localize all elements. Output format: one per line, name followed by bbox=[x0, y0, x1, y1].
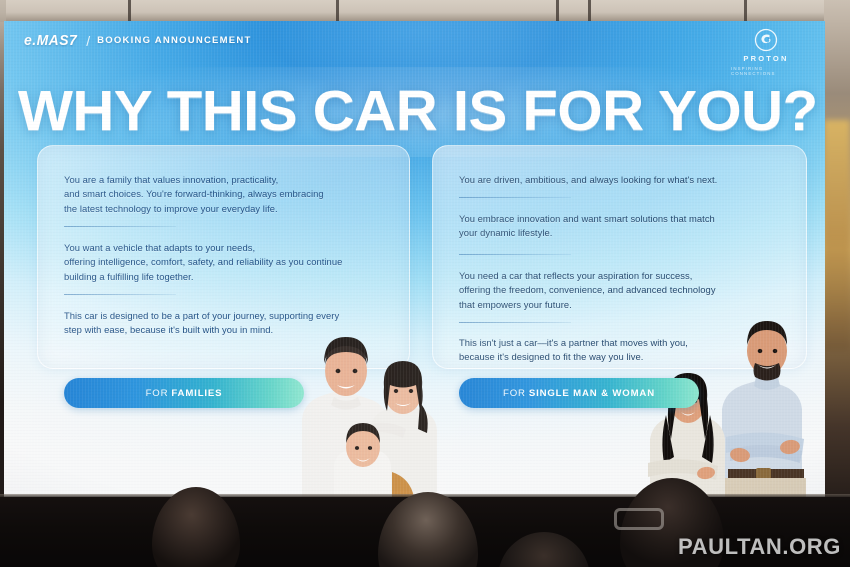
divider bbox=[64, 294, 176, 295]
watermark: PAULTAN.ORG bbox=[678, 534, 841, 560]
photo-of-presentation-screen: e.MAS7 / BOOKING ANNOUNCEMENT PROTON INS… bbox=[0, 0, 850, 567]
pill-prefix: FOR bbox=[503, 388, 526, 399]
divider bbox=[459, 197, 571, 198]
ceiling-seam bbox=[336, 0, 339, 22]
left-paragraph-1: You are a family that values innovation,… bbox=[64, 173, 386, 216]
right-paragraph-1: You are driven, ambitious, and always lo… bbox=[459, 173, 779, 187]
right-wall-decor bbox=[824, 0, 850, 520]
page-title: WHY THIS CAR IS FOR YOU? bbox=[18, 83, 825, 140]
slide-header: e.MAS7 / BOOKING ANNOUNCEMENT bbox=[22, 32, 252, 49]
pill-prefix: FOR bbox=[146, 388, 169, 399]
brand-tagline: INSPIRING CONNECTIONS bbox=[731, 66, 801, 76]
for-single-man-woman-button[interactable]: FOR SINGLE MAN & WOMAN bbox=[459, 378, 699, 408]
for-families-button[interactable]: FOR FAMILIES bbox=[64, 378, 304, 408]
divider bbox=[64, 226, 176, 227]
left-paragraph-2: You want a vehicle that adapts to your n… bbox=[64, 241, 394, 284]
header-separator: / bbox=[86, 33, 90, 49]
pill-label: FAMILIES bbox=[171, 388, 222, 399]
divider bbox=[459, 254, 571, 255]
pill-label: SINGLE MAN & WOMAN bbox=[529, 388, 655, 399]
proton-tiger-emblem-icon bbox=[754, 28, 778, 52]
led-presentation-screen: e.MAS7 / BOOKING ANNOUNCEMENT PROTON INS… bbox=[4, 21, 825, 497]
ceiling-seam bbox=[128, 0, 131, 22]
ceiling-seam bbox=[588, 0, 591, 22]
ceiling-seam bbox=[556, 0, 559, 22]
header-subtitle: BOOKING ANNOUNCEMENT bbox=[97, 35, 251, 46]
eyeglasses-icon bbox=[614, 508, 664, 530]
model-name: e.MAS7 bbox=[24, 32, 77, 49]
ceiling-seam bbox=[744, 0, 747, 22]
brand-name: PROTON bbox=[743, 54, 788, 63]
proton-logo: PROTON INSPIRING CONNECTIONS bbox=[731, 28, 801, 76]
right-paragraph-2: You embrace innovation and want smart so… bbox=[459, 212, 779, 241]
